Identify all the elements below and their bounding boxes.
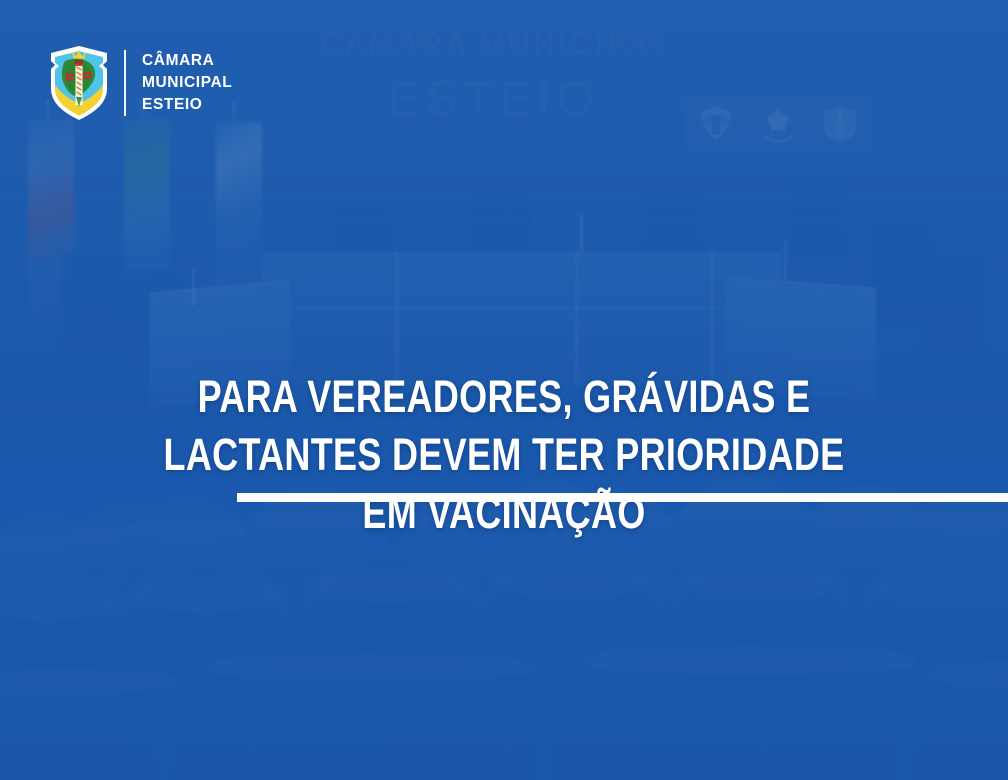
logo-wordmark: CÂMARA MUNICIPAL ESTEIO	[142, 50, 232, 116]
logo-line-esteio: ESTEIO	[142, 94, 232, 116]
banner-canvas: CÂMARA MUNICIPAL ESTEIO	[0, 0, 1008, 780]
logo-line-camara: CÂMARA	[142, 50, 232, 72]
headline-title: PARA VEREADORES, GRÁVIDAS E LACTANTES DE…	[101, 368, 907, 542]
logo-line-municipal: MUNICIPAL	[142, 72, 232, 94]
headline-underline-rule	[237, 493, 1008, 502]
banner-content: CÂMARA MUNICIPAL ESTEIO PARA VEREADORES,…	[0, 0, 1008, 780]
logo-divider	[124, 50, 126, 116]
esteio-coat-of-arms-shield-icon	[48, 45, 110, 121]
camara-municipal-esteio-logo: CÂMARA MUNICIPAL ESTEIO	[48, 42, 232, 124]
